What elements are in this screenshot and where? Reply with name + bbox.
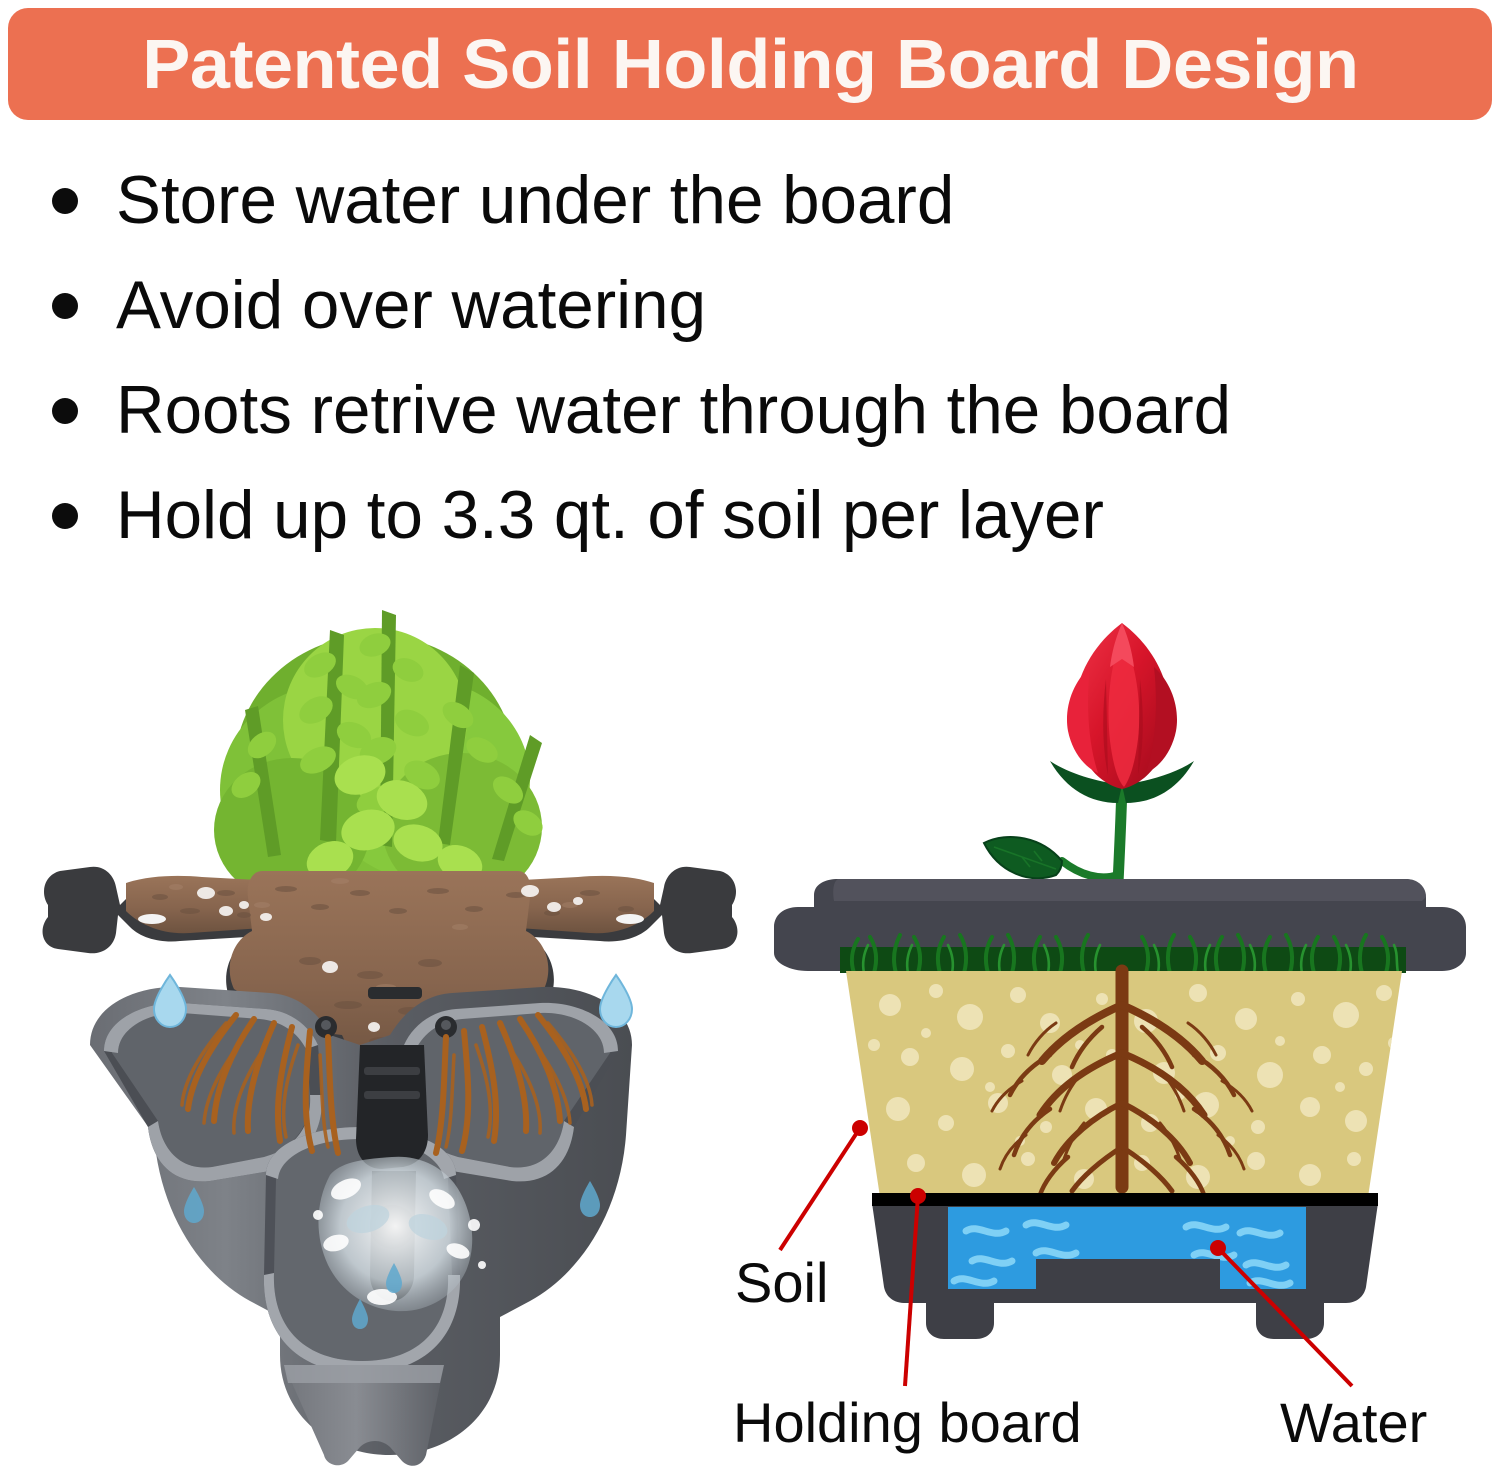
planter-bowls <box>90 987 632 1466</box>
callout-label-soil: Soil <box>735 1255 828 1311</box>
list-item: Hold up to 3.3 qt. of soil per layer <box>52 465 1472 570</box>
list-item: Avoid over watering <box>52 255 1472 360</box>
list-item-label: Roots retrive water through the board <box>116 360 1231 460</box>
callout-label-holding-board: Holding board <box>733 1395 1082 1451</box>
page-title: Patented Soil Holding Board Design <box>142 29 1358 99</box>
pot-cross-section-diagram <box>750 575 1500 1469</box>
feature-list: Store water under the board Avoid over w… <box>52 150 1472 570</box>
list-item-label: Store water under the board <box>116 150 954 250</box>
stackable-planter-photo <box>30 575 750 1469</box>
list-item: Store water under the board <box>52 150 1472 255</box>
plant-foliage <box>214 610 547 902</box>
holding-board-line <box>872 1193 1378 1206</box>
bullet-icon <box>52 398 78 424</box>
bullet-icon <box>52 503 78 529</box>
rose-bud <box>1067 623 1177 789</box>
list-item-label: Avoid over watering <box>116 255 706 355</box>
header-banner: Patented Soil Holding Board Design <box>8 8 1492 120</box>
bullet-icon <box>52 188 78 214</box>
callout-label-water: Water <box>1280 1395 1427 1451</box>
bullet-icon <box>52 293 78 319</box>
figures-row <box>0 575 1500 1469</box>
list-item: Roots retrive water through the board <box>52 360 1472 465</box>
list-item-label: Hold up to 3.3 qt. of soil per layer <box>116 465 1104 565</box>
